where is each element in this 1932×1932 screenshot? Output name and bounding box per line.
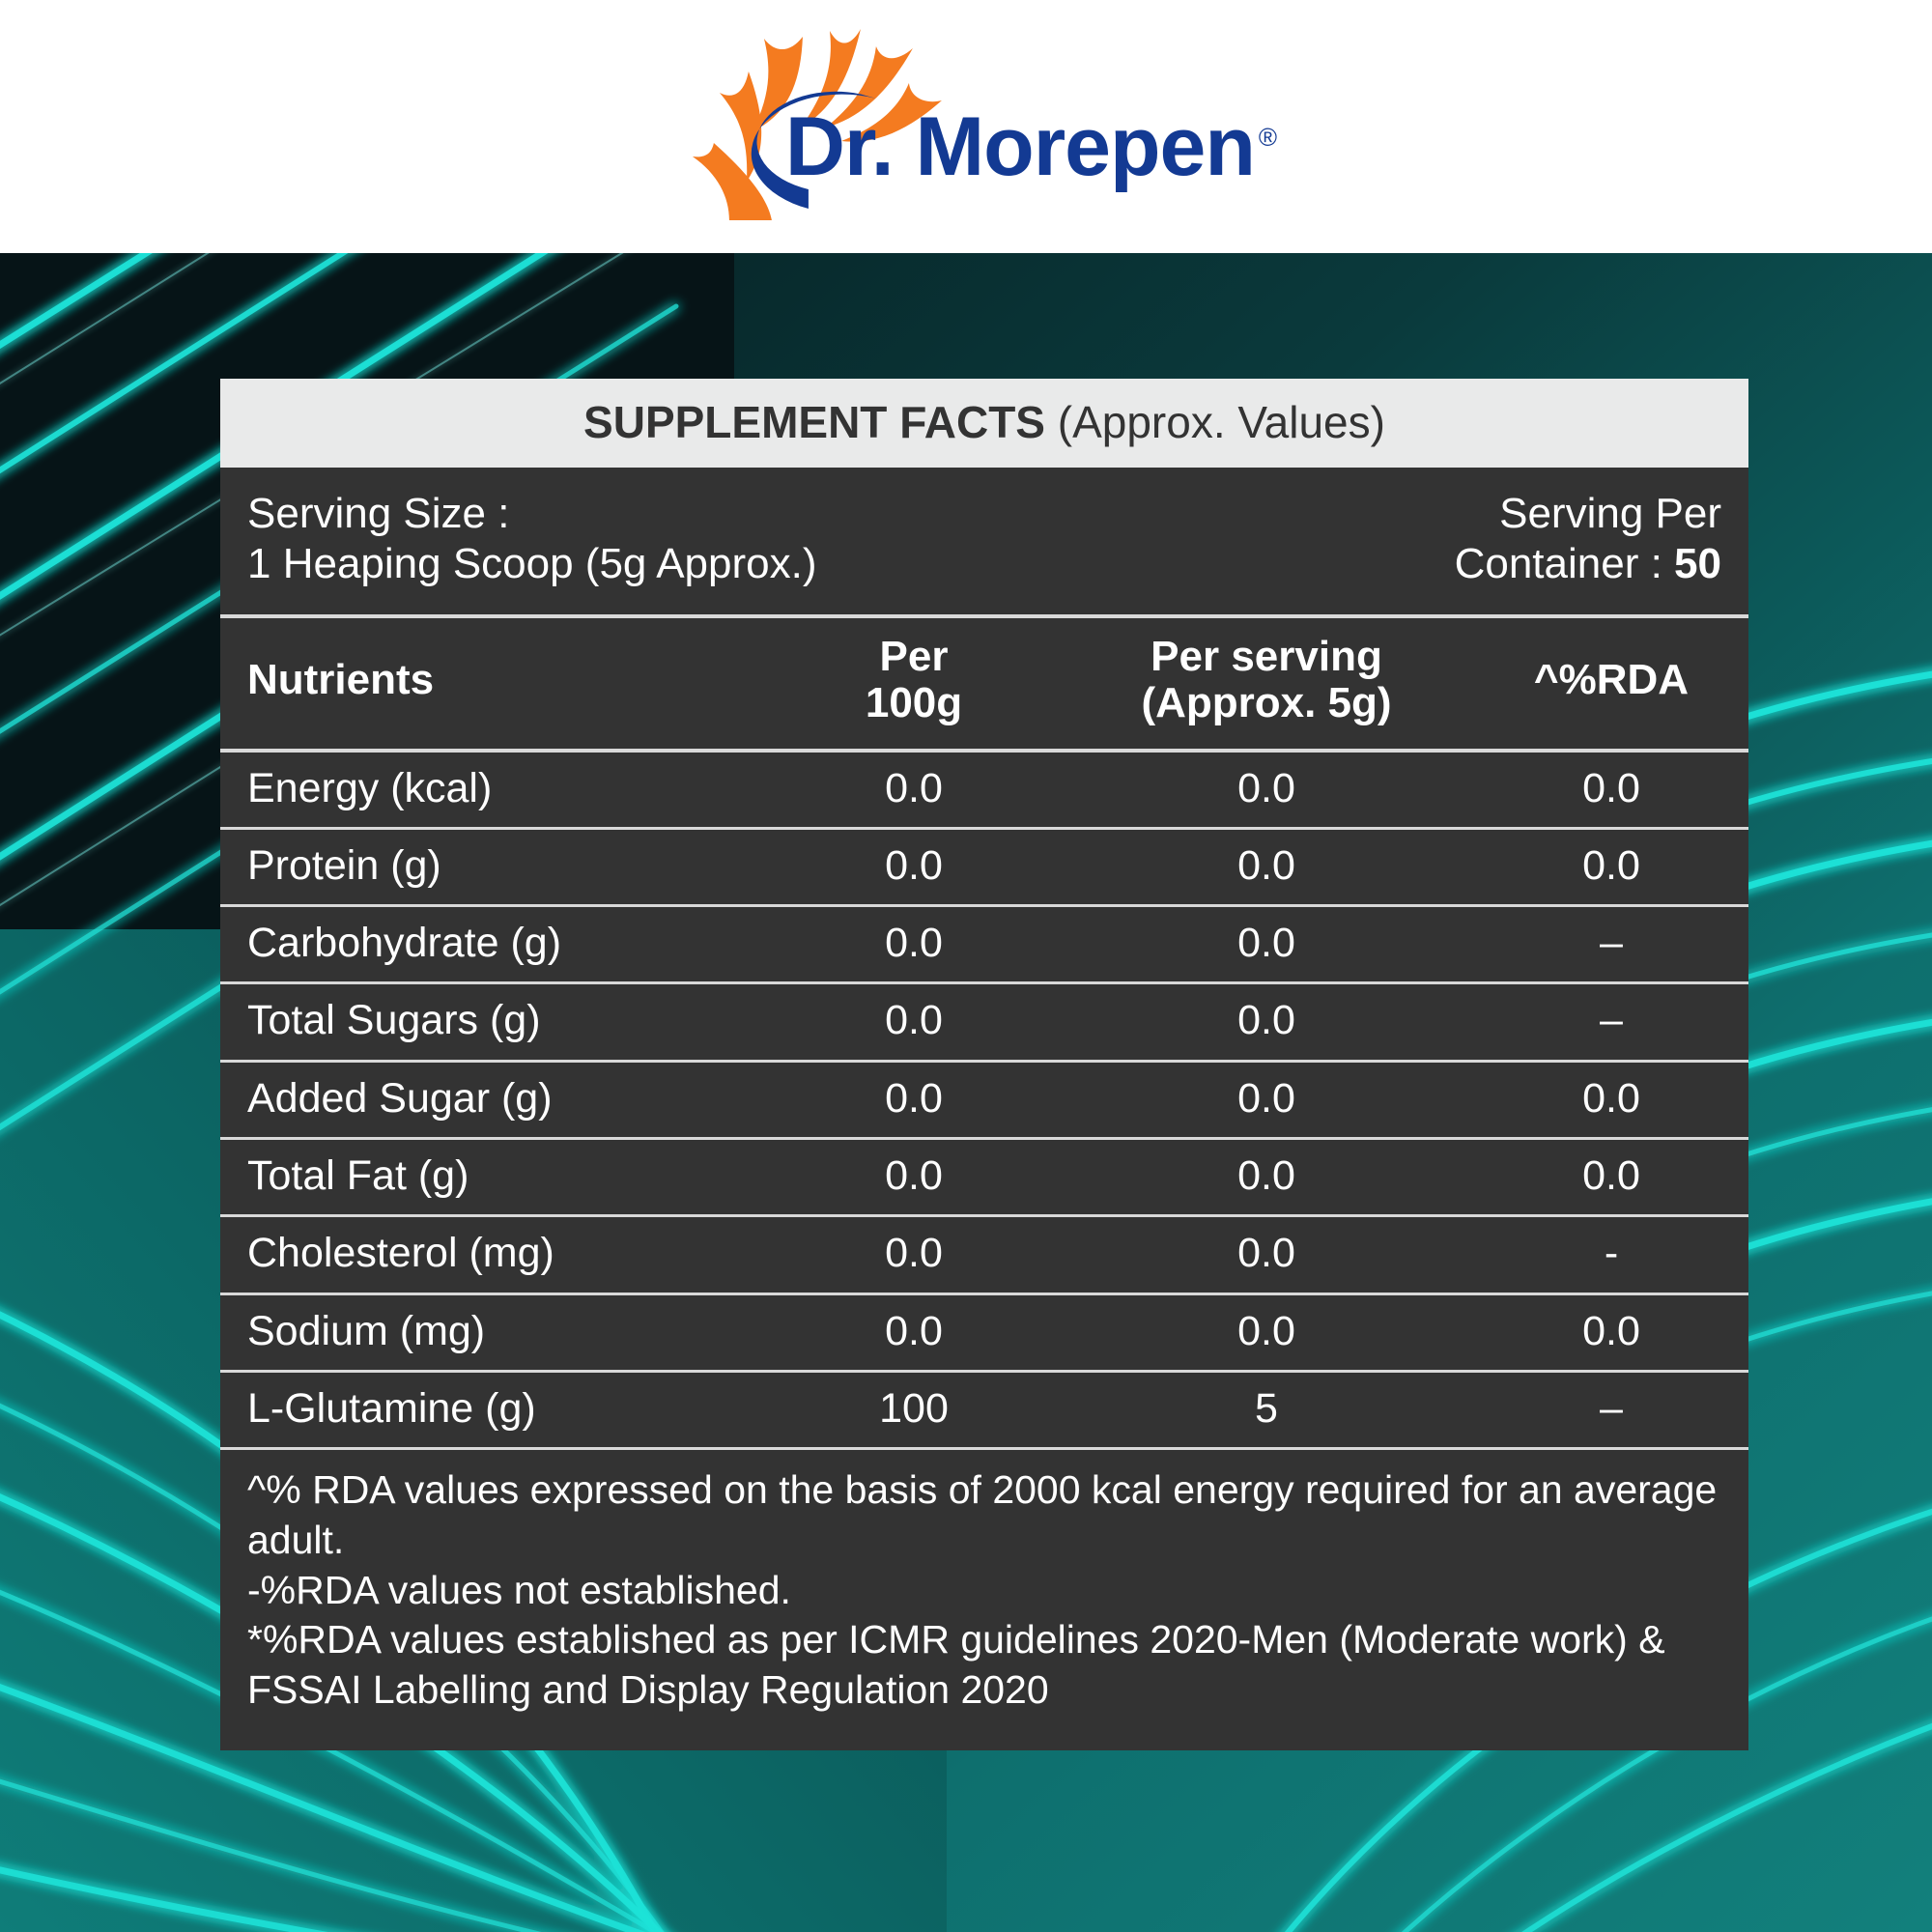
cell-per-100g: 0.0	[769, 1216, 1059, 1293]
cell-rda: 0.0	[1474, 1139, 1748, 1216]
cell-rda: –	[1474, 983, 1748, 1061]
cell-rda: 0.0	[1474, 1293, 1748, 1371]
cell-per-serving: 0.0	[1059, 983, 1474, 1061]
cell-nutrient: Cholesterol (mg)	[220, 1216, 769, 1293]
header-per-serving-line1: Per serving	[1059, 634, 1474, 680]
serving-size: Serving Size : 1 Heaping Scoop (5g Appro…	[247, 489, 817, 589]
cell-per-100g: 0.0	[769, 1061, 1059, 1138]
footnote-line: *%RDA values established as per ICMR gui…	[247, 1615, 1721, 1715]
table-row: Cholesterol (mg)0.00.0-	[220, 1216, 1748, 1293]
serving-size-value: 1 Heaping Scoop (5g Approx.)	[247, 539, 817, 589]
cell-rda: –	[1474, 1371, 1748, 1448]
cell-per-serving: 0.0	[1059, 828, 1474, 905]
serving-info-row: Serving Size : 1 Heaping Scoop (5g Appro…	[220, 468, 1748, 618]
supplement-facts-page: Dr. Morepen® SUPPLEMENT FACTS (Approx. V…	[0, 0, 1932, 1932]
cell-per-100g: 0.0	[769, 1293, 1059, 1371]
cell-per-serving: 0.0	[1059, 1139, 1474, 1216]
cell-nutrient: L-Glutamine (g)	[220, 1371, 769, 1448]
nutrition-table-head: Nutrients Per 100g Per serving (Approx. …	[220, 618, 1748, 751]
panel-title-regular: (Approx. Values)	[1058, 397, 1385, 447]
cell-rda: 0.0	[1474, 751, 1748, 829]
cell-nutrient: Carbohydrate (g)	[220, 906, 769, 983]
cell-per-serving: 0.0	[1059, 1293, 1474, 1371]
table-header-row: Nutrients Per 100g Per serving (Approx. …	[220, 618, 1748, 751]
cell-per-serving: 0.0	[1059, 1216, 1474, 1293]
footnote-line: -%RDA values not established.	[247, 1566, 1721, 1616]
cell-rda: 0.0	[1474, 828, 1748, 905]
cell-nutrient: Sodium (mg)	[220, 1293, 769, 1371]
brand-header: Dr. Morepen®	[0, 0, 1932, 253]
cell-per-100g: 0.0	[769, 983, 1059, 1061]
table-row: Energy (kcal)0.00.00.0	[220, 751, 1748, 829]
serving-per-container: Serving Per Container : 50	[1455, 489, 1721, 589]
header-nutrients: Nutrients	[220, 618, 769, 751]
cell-rda: –	[1474, 906, 1748, 983]
table-row: Added Sugar (g)0.00.00.0	[220, 1061, 1748, 1138]
header-per-100g: Per 100g	[769, 618, 1059, 751]
cell-per-100g: 0.0	[769, 751, 1059, 829]
panel-body: Serving Size : 1 Heaping Scoop (5g Appro…	[220, 468, 1748, 1750]
header-per-serving: Per serving (Approx. 5g)	[1059, 618, 1474, 751]
cell-rda: -	[1474, 1216, 1748, 1293]
cell-rda: 0.0	[1474, 1061, 1748, 1138]
serving-per-container-label: Serving Per	[1455, 489, 1721, 539]
header-rda: ^%RDA	[1474, 618, 1748, 751]
cell-per-serving: 5	[1059, 1371, 1474, 1448]
cell-per-serving: 0.0	[1059, 1061, 1474, 1138]
panel-title-bold: SUPPLEMENT FACTS	[583, 397, 1045, 447]
table-row: Protein (g)0.00.00.0	[220, 828, 1748, 905]
cell-per-100g: 0.0	[769, 828, 1059, 905]
registered-trademark-icon: ®	[1259, 123, 1276, 152]
brand-name: Dr. Morepen®	[785, 99, 1276, 195]
cell-per-100g: 0.0	[769, 1139, 1059, 1216]
header-per-serving-line2: (Approx. 5g)	[1059, 680, 1474, 726]
nutrition-table: Nutrients Per 100g Per serving (Approx. …	[220, 618, 1748, 1450]
table-row: Carbohydrate (g)0.00.0–	[220, 906, 1748, 983]
cell-per-100g: 0.0	[769, 906, 1059, 983]
table-row: Total Fat (g)0.00.00.0	[220, 1139, 1748, 1216]
serving-per-container-count: 50	[1674, 540, 1721, 587]
cell-per-100g: 100	[769, 1371, 1059, 1448]
cell-nutrient: Total Sugars (g)	[220, 983, 769, 1061]
panel-title: SUPPLEMENT FACTS (Approx. Values)	[220, 379, 1748, 468]
footnote-line: ^% RDA values expressed on the basis of …	[247, 1465, 1721, 1565]
cell-per-serving: 0.0	[1059, 906, 1474, 983]
brand-logo: Dr. Morepen®	[656, 27, 1276, 220]
cell-nutrient: Protein (g)	[220, 828, 769, 905]
header-per-100g-line1: Per	[769, 634, 1059, 680]
cell-nutrient: Energy (kcal)	[220, 751, 769, 829]
supplement-facts-panel: SUPPLEMENT FACTS (Approx. Values) Servin…	[220, 379, 1748, 1750]
nutrition-table-body: Energy (kcal)0.00.00.0Protein (g)0.00.00…	[220, 751, 1748, 1449]
table-row: Sodium (mg)0.00.00.0	[220, 1293, 1748, 1371]
cell-per-serving: 0.0	[1059, 751, 1474, 829]
cell-nutrient: Total Fat (g)	[220, 1139, 769, 1216]
serving-size-label: Serving Size :	[247, 489, 817, 539]
serving-per-container-value-line: Container : 50	[1455, 539, 1721, 589]
footnotes: ^% RDA values expressed on the basis of …	[220, 1450, 1748, 1749]
cell-nutrient: Added Sugar (g)	[220, 1061, 769, 1138]
brand-name-text: Dr. Morepen	[785, 100, 1255, 193]
serving-per-container-prefix: Container :	[1455, 540, 1674, 587]
header-per-100g-line2: 100g	[769, 680, 1059, 726]
table-row: L-Glutamine (g)1005–	[220, 1371, 1748, 1448]
table-row: Total Sugars (g)0.00.0–	[220, 983, 1748, 1061]
